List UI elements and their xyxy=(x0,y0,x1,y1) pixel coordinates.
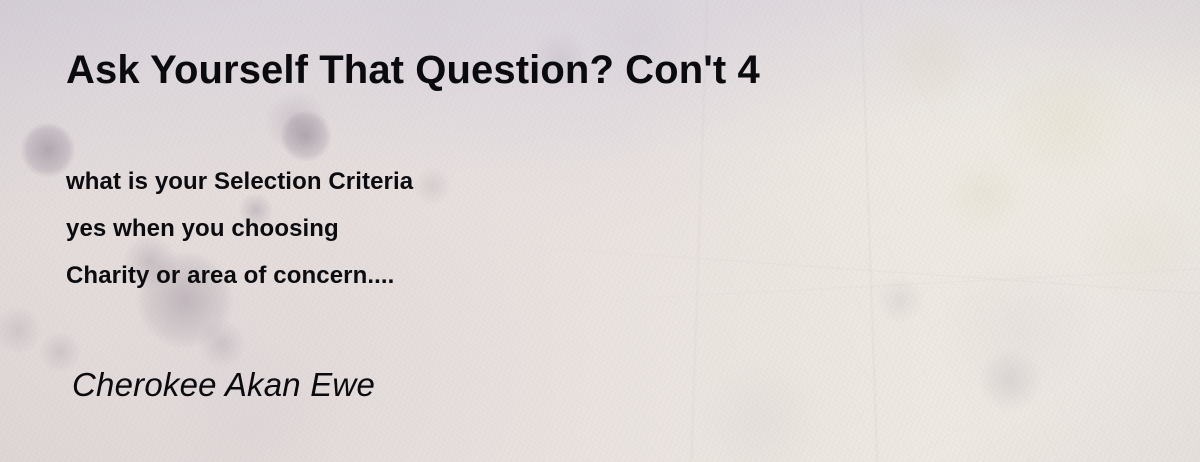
poem-body: what is your Selection Criteria yes when… xyxy=(66,158,413,299)
poem-line: what is your Selection Criteria xyxy=(66,158,413,205)
poem-banner: Ask Yourself That Question? Con't 4 what… xyxy=(0,0,1200,462)
poem-title: Ask Yourself That Question? Con't 4 xyxy=(66,48,760,92)
poem-line: yes when you choosing xyxy=(66,205,413,252)
poem-author: Cherokee Akan Ewe xyxy=(72,366,375,404)
poem-line: Charity or area of concern.... xyxy=(66,252,413,299)
